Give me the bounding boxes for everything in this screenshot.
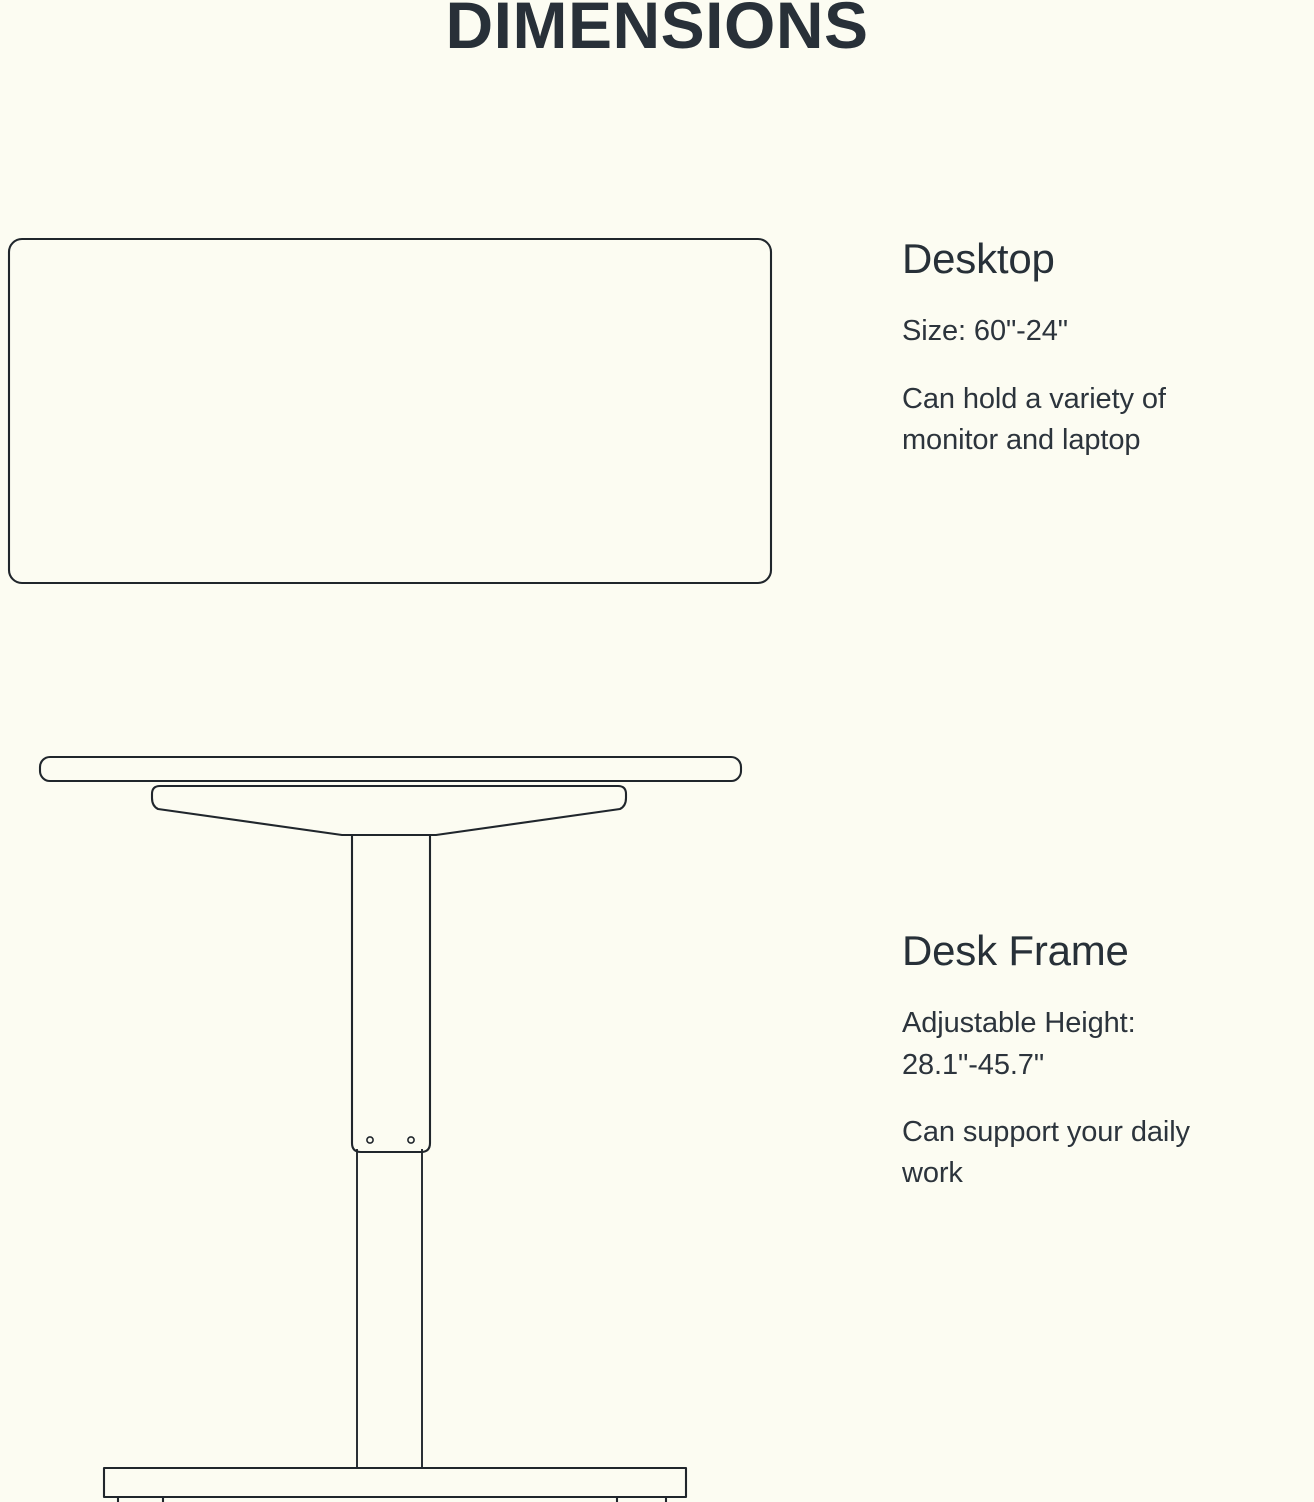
base-bar <box>104 1468 686 1497</box>
column-screw-right-icon <box>408 1137 414 1143</box>
desk-frame-spec-support: Can support your daily work <box>902 1112 1314 1194</box>
upper-column <box>352 835 430 1152</box>
lower-column <box>357 1149 422 1468</box>
desk-frame-info-block: Desk Frame Adjustable Height: 28.1"-45.7… <box>902 928 1314 1194</box>
desktop-heading: Desktop <box>902 236 1314 281</box>
dimensions-page: DIMENSIONS Desktop Size: 60"-24" Can hol… <box>0 0 1314 1500</box>
desktop-spec-size: Size: 60"-24" <box>902 311 1314 352</box>
desk-frame-heading: Desk Frame <box>902 928 1314 973</box>
desktop-info-block: Desktop Size: 60"-24" Can hold a variety… <box>902 236 1314 461</box>
column-screw-left-icon <box>367 1137 373 1143</box>
desk-frame-side-view-drawing <box>0 740 800 1502</box>
desktop-top-view-drawing <box>0 228 790 598</box>
tabletop-slab <box>40 757 741 781</box>
desktop-spec-capacity: Can hold a variety of monitor and laptop <box>902 379 1314 461</box>
desktop-outline-rect <box>9 239 771 583</box>
desk-frame-spec-height: Adjustable Height: 28.1"-45.7" <box>902 1003 1314 1085</box>
top-support-bracket <box>152 786 626 835</box>
page-title: DIMENSIONS <box>0 0 1314 58</box>
